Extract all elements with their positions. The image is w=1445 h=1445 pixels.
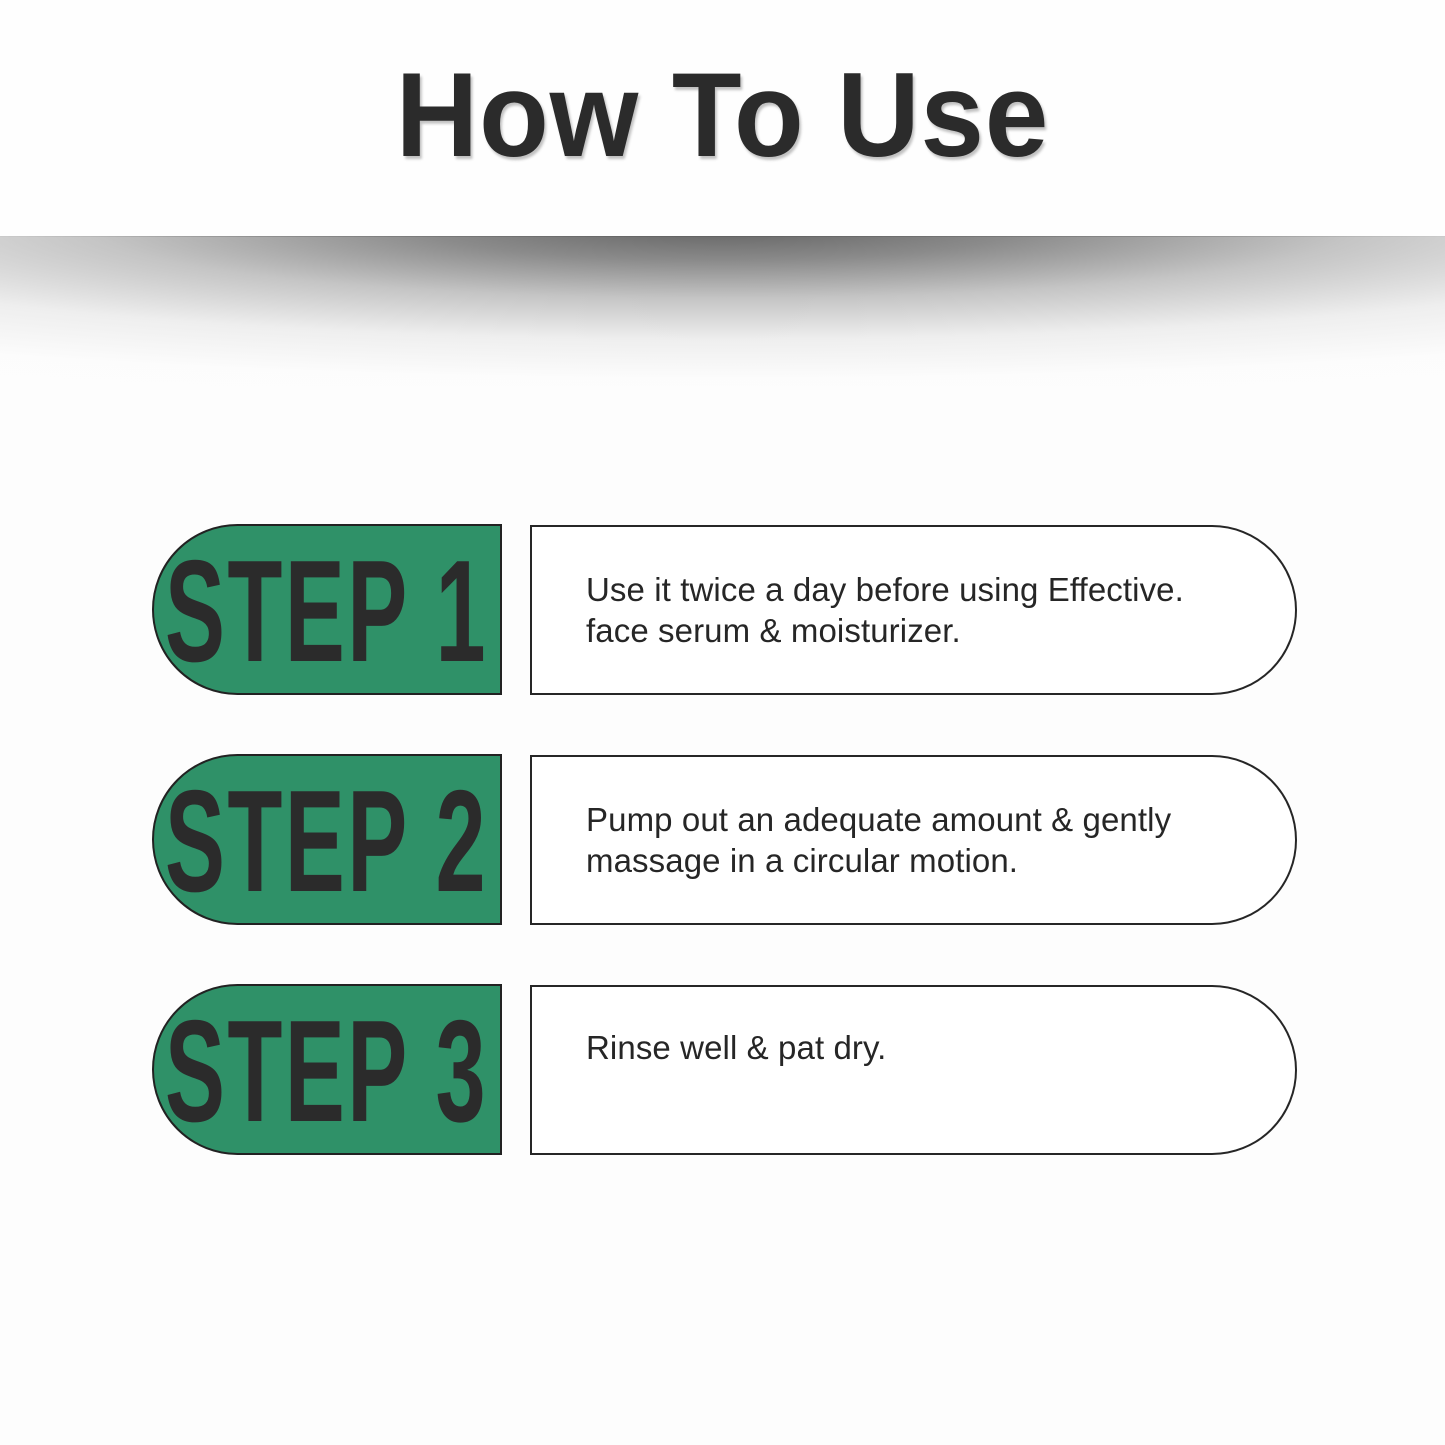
step-row: STEP 1 Use it twice a day before using E… [0, 524, 1445, 695]
header-band: How To Use [0, 0, 1445, 236]
step-description-panel-2: Pump out an adequate amount & gently mas… [530, 755, 1297, 925]
steps-list: STEP 1 Use it twice a day before using E… [0, 524, 1445, 1155]
page-title: How To Use [36, 55, 1409, 175]
step-badge-3[interactable]: STEP 3 [152, 984, 502, 1155]
step-description-line: Pump out an adequate amount & gently [586, 799, 1235, 840]
step-description-line: Use it twice a day before using Effectiv… [586, 569, 1235, 610]
step-description-line: face serum & moisturizer. [586, 610, 1235, 651]
step-row: STEP 2 Pump out an adequate amount & gen… [0, 754, 1445, 925]
step-description-panel-3: Rinse well & pat dry. [530, 985, 1297, 1155]
step-badge-label: STEP 1 [165, 539, 488, 684]
step-badge-1[interactable]: STEP 1 [152, 524, 502, 695]
step-badge-label: STEP 2 [165, 769, 488, 914]
step-description-panel-1: Use it twice a day before using Effectiv… [530, 525, 1297, 695]
step-description-line: Rinse well & pat dry. [586, 1027, 1235, 1068]
step-badge-label: STEP 3 [165, 999, 488, 1144]
step-description-line: massage in a circular motion. [586, 840, 1235, 881]
step-row: STEP 3 Rinse well & pat dry. [0, 984, 1445, 1155]
header-drop-shadow [0, 236, 1445, 386]
step-badge-2[interactable]: STEP 2 [152, 754, 502, 925]
